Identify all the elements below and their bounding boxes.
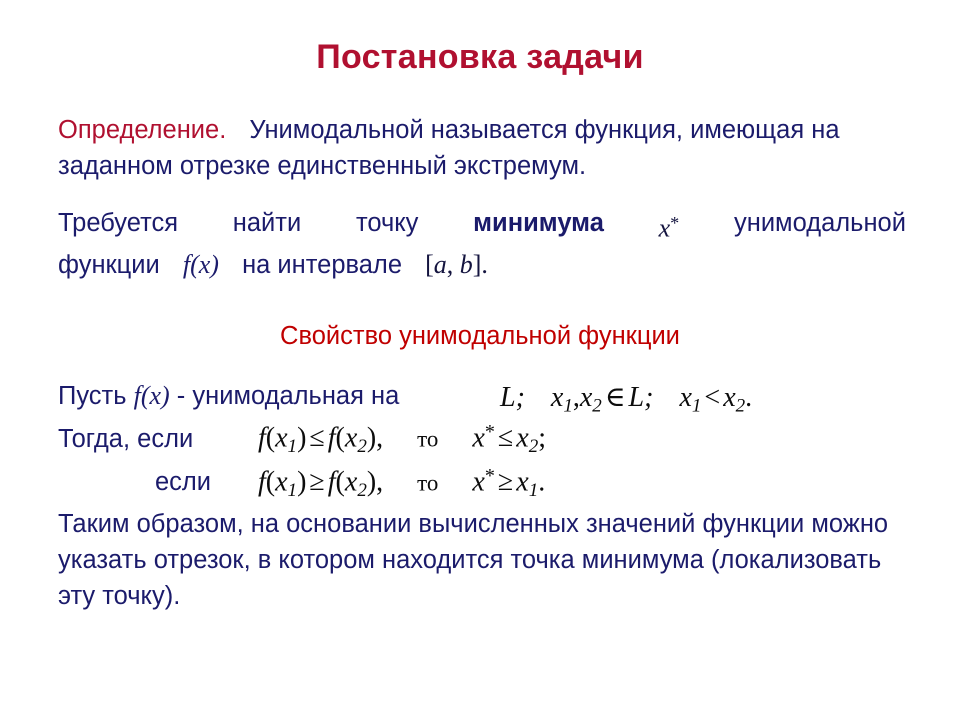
math-x2: x bbox=[580, 382, 592, 413]
statement-word-unimodalnoy: унимодальной bbox=[734, 205, 906, 247]
math-xstar: x bbox=[472, 466, 484, 497]
statement-word-na-intervale: на интервале bbox=[242, 251, 402, 279]
statement-word-tochku: точку bbox=[356, 205, 419, 247]
math-x2: x bbox=[345, 422, 357, 453]
math-bracket-open: [ bbox=[425, 250, 434, 279]
math-to-word: то bbox=[417, 470, 438, 495]
math-xr-sub: 2 bbox=[529, 436, 539, 457]
math-star: * bbox=[485, 421, 495, 443]
math-x1b: x bbox=[679, 382, 691, 413]
statement-paragraph: Требуется найти точку минимума x* унимод… bbox=[58, 205, 906, 283]
page-title: Постановка задачи bbox=[0, 38, 960, 77]
math-x1-sub: 1 bbox=[563, 395, 573, 416]
math-f: f bbox=[258, 466, 266, 497]
math-paren-open-2: ( bbox=[336, 466, 345, 497]
math-semicolon: ; bbox=[538, 422, 546, 453]
math-f2: f bbox=[328, 422, 336, 453]
statement-word-nayti: найти bbox=[233, 205, 301, 247]
math-L-2: L; bbox=[629, 382, 654, 413]
math-star: * bbox=[670, 213, 679, 233]
math-paren-open: ( bbox=[266, 466, 275, 497]
math-f2: f bbox=[328, 466, 336, 497]
slide-canvas: Постановка задачи Определение. Унимодаль… bbox=[0, 0, 960, 720]
statement-math-xstar: x* bbox=[659, 205, 680, 247]
math-L-1: L; bbox=[500, 382, 525, 413]
conclusion-paragraph: Таким образом, на основании вычисленных … bbox=[58, 506, 914, 614]
math-x: x bbox=[275, 466, 287, 497]
math-paren-open: ( bbox=[266, 422, 275, 453]
math-xr: x bbox=[516, 466, 528, 497]
math-x-sub: 1 bbox=[288, 480, 298, 501]
math-b: b bbox=[460, 250, 473, 279]
math-period: . bbox=[745, 382, 752, 413]
math-comma: , bbox=[573, 382, 580, 413]
math-paren-close: ) bbox=[297, 422, 306, 453]
math-xr: x bbox=[516, 422, 528, 453]
let-line: Пусть f(x) - унимодальная на bbox=[58, 378, 938, 414]
math-x: x bbox=[659, 214, 671, 243]
math-paren-close: ) bbox=[297, 466, 306, 497]
math-x2-sub: 2 bbox=[357, 436, 367, 457]
math-x2-sub: 2 bbox=[592, 395, 602, 416]
statement-line-1: Требуется найти точку минимума x* унимод… bbox=[58, 205, 906, 247]
math-x1: x bbox=[551, 382, 563, 413]
let-text-unimodalnaya: - унимодальная на bbox=[177, 382, 399, 410]
math-a: a bbox=[434, 250, 447, 279]
definition-paragraph: Определение. Унимодальной называется фун… bbox=[58, 112, 914, 184]
math-xr-sub: 1 bbox=[529, 480, 539, 501]
math-geq-operator-2: ≥ bbox=[495, 466, 516, 497]
inequality-2-math: f(x1)≥f(x2),тоx*≥x1. bbox=[258, 465, 545, 502]
math-xstar: x bbox=[472, 422, 484, 453]
math-comma: , bbox=[447, 250, 454, 279]
statement-word-funktsii: функции bbox=[58, 251, 160, 279]
math-x2b: x bbox=[723, 382, 735, 413]
math-paren-close-2: ), bbox=[367, 466, 383, 497]
math-period: . bbox=[538, 466, 545, 497]
math-in-operator: ∈ bbox=[602, 382, 629, 413]
then-label: Тогда, если bbox=[58, 421, 193, 457]
set-condition-math: L;x1,x2∈L;x1<x2. bbox=[500, 380, 752, 417]
statement-math-interval: [a, b]. bbox=[425, 250, 488, 279]
math-less-than: < bbox=[701, 382, 723, 413]
statement-line-2: функции f(x) на интервале [a, b]. bbox=[58, 247, 906, 283]
math-x1b-sub: 1 bbox=[692, 395, 702, 416]
math-paren-open-2: ( bbox=[336, 422, 345, 453]
statement-word-minimuma: минимума bbox=[473, 205, 604, 247]
math-leq-operator-2: ≤ bbox=[495, 422, 516, 453]
math-paren-close-2: ), bbox=[367, 422, 383, 453]
math-bracket-close: ]. bbox=[473, 250, 488, 279]
let-math-fx: f(x) bbox=[134, 381, 170, 410]
math-x-sub: 1 bbox=[288, 436, 298, 457]
math-f: f bbox=[258, 422, 266, 453]
property-heading: Свойство унимодальной функции bbox=[0, 322, 960, 351]
statement-word-trebuetsya: Требуется bbox=[58, 205, 178, 247]
math-x2-sub: 2 bbox=[357, 480, 367, 501]
if-label: если bbox=[155, 464, 211, 500]
definition-term: Определение. bbox=[58, 116, 226, 144]
math-geq-operator: ≥ bbox=[306, 466, 327, 497]
math-x2b-sub: 2 bbox=[736, 395, 746, 416]
math-star: * bbox=[485, 465, 495, 487]
math-x: x bbox=[275, 422, 287, 453]
math-leq-operator: ≤ bbox=[306, 422, 327, 453]
statement-math-fx: f(x) bbox=[183, 250, 219, 279]
math-to-word: то bbox=[417, 426, 438, 451]
let-word-pust: Пусть bbox=[58, 382, 127, 410]
math-x2: x bbox=[345, 466, 357, 497]
inequality-1-math: f(x1)≤f(x2),тоx*≤x2; bbox=[258, 421, 546, 458]
